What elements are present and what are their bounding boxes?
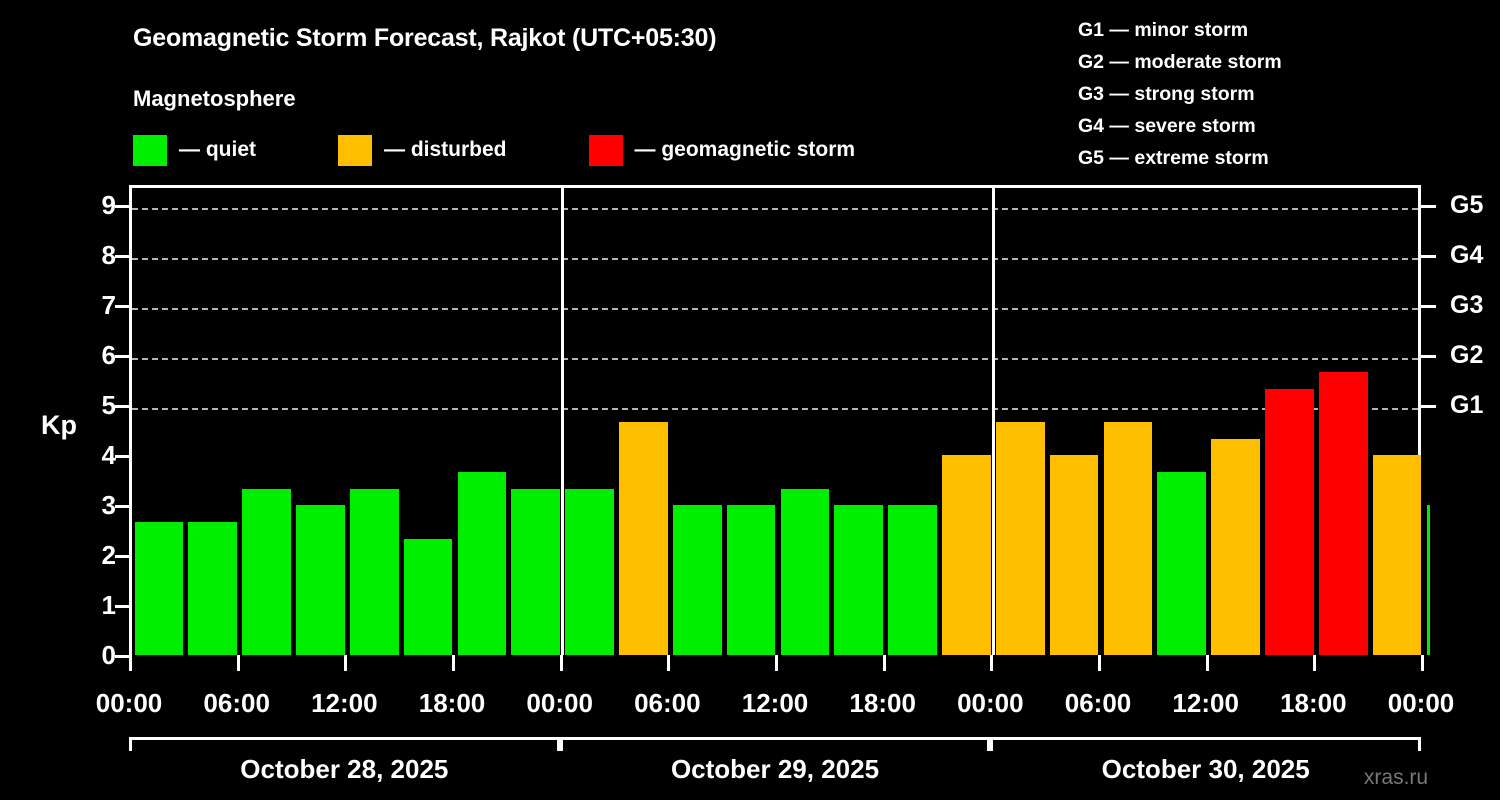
- bar: [727, 505, 776, 655]
- x-tick-label: 12:00: [1172, 688, 1239, 719]
- y-tick-mark: [115, 655, 129, 658]
- bar: [350, 489, 399, 656]
- x-tick-label: 12:00: [311, 688, 378, 719]
- x-tick-mark: [237, 655, 240, 671]
- g-tick-label: G5: [1450, 193, 1483, 218]
- day-bracket: [990, 737, 1421, 751]
- x-tick-mark: [1313, 655, 1316, 671]
- y-tick-label: 2: [76, 542, 116, 568]
- g-tick-label: G4: [1450, 243, 1483, 268]
- x-tick-label: 18:00: [849, 688, 916, 719]
- gscale-legend-line: G4 — severe storm: [1078, 110, 1282, 142]
- x-tick-mark: [1098, 655, 1101, 671]
- bar: [188, 522, 237, 656]
- bar: [458, 472, 507, 656]
- bar: [834, 505, 883, 655]
- y-tick-mark: [115, 205, 129, 208]
- storm-swatch: [589, 135, 623, 166]
- x-tick-label: 00:00: [96, 688, 163, 719]
- y-tick-mark: [115, 555, 129, 558]
- day-bracket: [129, 737, 560, 751]
- y-tick-mark: [115, 255, 129, 258]
- g-tick-label: G2: [1450, 343, 1483, 368]
- bar: [996, 422, 1045, 656]
- y-tick-label: 7: [76, 292, 116, 318]
- bar: [781, 489, 830, 656]
- x-tick-mark: [667, 655, 670, 671]
- bar: [619, 422, 668, 656]
- x-tick-mark: [129, 655, 132, 671]
- day-label: October 29, 2025: [671, 754, 879, 785]
- x-tick-mark: [990, 655, 993, 671]
- x-tick-label: 18:00: [419, 688, 486, 719]
- day-bracket: [560, 737, 991, 751]
- bar: [1427, 505, 1430, 655]
- magnetosphere-legend: — quiet — disturbed — geomagnetic storm: [133, 134, 855, 166]
- x-tick-label: 00:00: [526, 688, 593, 719]
- bar: [565, 489, 614, 656]
- x-tick-mark: [560, 655, 563, 671]
- quiet-swatch: [133, 135, 167, 166]
- day-label: October 28, 2025: [240, 754, 448, 785]
- x-tick-mark: [344, 655, 347, 671]
- bar: [673, 505, 722, 655]
- gscale-legend-line: G5 — extreme storm: [1078, 142, 1282, 174]
- legend-label-disturbed: — disturbed: [384, 138, 507, 162]
- y-tick-label: 9: [76, 192, 116, 218]
- legend-item-disturbed: — disturbed: [338, 135, 507, 166]
- x-tick-mark: [775, 655, 778, 671]
- x-tick-label: 06:00: [1065, 688, 1132, 719]
- bar: [242, 489, 291, 656]
- legend-label-quiet: — quiet: [179, 138, 256, 162]
- y-tick-label: 6: [76, 342, 116, 368]
- gscale-legend-line: G3 — strong storm: [1078, 78, 1282, 110]
- bar: [1050, 455, 1099, 655]
- g-tick-mark: [1421, 405, 1436, 408]
- y-tick-label: 4: [76, 442, 116, 468]
- gscale-legend: G1 — minor stormG2 — moderate stormG3 — …: [1078, 14, 1282, 174]
- plot-area: [129, 185, 1421, 655]
- watermark: xras.ru: [1364, 766, 1428, 790]
- legend-item-quiet: — quiet: [133, 135, 256, 166]
- gscale-legend-line: G1 — minor storm: [1078, 14, 1282, 46]
- bar: [1373, 455, 1421, 655]
- legend-item-storm: — geomagnetic storm: [589, 135, 856, 166]
- y-axis-title: Kp: [41, 410, 77, 441]
- g-tick-mark: [1421, 255, 1436, 258]
- y-tick-mark: [115, 455, 129, 458]
- plot-inner: [132, 188, 1418, 655]
- x-tick-mark: [1206, 655, 1209, 671]
- bar: [1265, 389, 1314, 656]
- bar: [1211, 439, 1260, 656]
- y-tick-mark: [115, 505, 129, 508]
- x-tick-mark: [883, 655, 886, 671]
- y-tick-label: 3: [76, 492, 116, 518]
- g-tick-mark: [1421, 305, 1436, 308]
- x-tick-mark: [452, 655, 455, 671]
- legend-heading: Magnetosphere: [133, 86, 296, 112]
- y-tick-mark: [115, 605, 129, 608]
- bars-layer: [132, 188, 1418, 655]
- bar: [404, 539, 453, 656]
- legend-label-storm: — geomagnetic storm: [635, 138, 856, 162]
- bar: [135, 522, 184, 656]
- day-label: October 30, 2025: [1102, 754, 1310, 785]
- y-tick-mark: [115, 405, 129, 408]
- g-tick-mark: [1421, 205, 1436, 208]
- x-tick-label: 18:00: [1280, 688, 1347, 719]
- g-tick-label: G3: [1450, 293, 1483, 318]
- bar: [1157, 472, 1206, 656]
- x-tick-label: 12:00: [742, 688, 809, 719]
- x-tick-label: 00:00: [957, 688, 1024, 719]
- y-tick-label: 8: [76, 242, 116, 268]
- bar: [942, 455, 991, 655]
- x-tick-mark: [1421, 655, 1424, 671]
- x-tick-label: 06:00: [634, 688, 701, 719]
- g-tick-mark: [1421, 355, 1436, 358]
- y-tick-label: 5: [76, 392, 116, 418]
- bar: [296, 505, 345, 655]
- bar: [1319, 372, 1368, 656]
- bar: [1104, 422, 1153, 656]
- page-title: Geomagnetic Storm Forecast, Rajkot (UTC+…: [133, 24, 716, 53]
- x-tick-label: 00:00: [1388, 688, 1455, 719]
- g-tick-label: G1: [1450, 393, 1483, 418]
- gscale-legend-line: G2 — moderate storm: [1078, 46, 1282, 78]
- bar: [888, 505, 937, 655]
- disturbed-swatch: [338, 135, 372, 166]
- y-tick-mark: [115, 355, 129, 358]
- y-tick-label: 1: [76, 592, 116, 618]
- x-tick-label: 06:00: [203, 688, 270, 719]
- bar: [511, 489, 560, 656]
- y-tick-label: 0: [76, 642, 116, 668]
- y-tick-mark: [115, 305, 129, 308]
